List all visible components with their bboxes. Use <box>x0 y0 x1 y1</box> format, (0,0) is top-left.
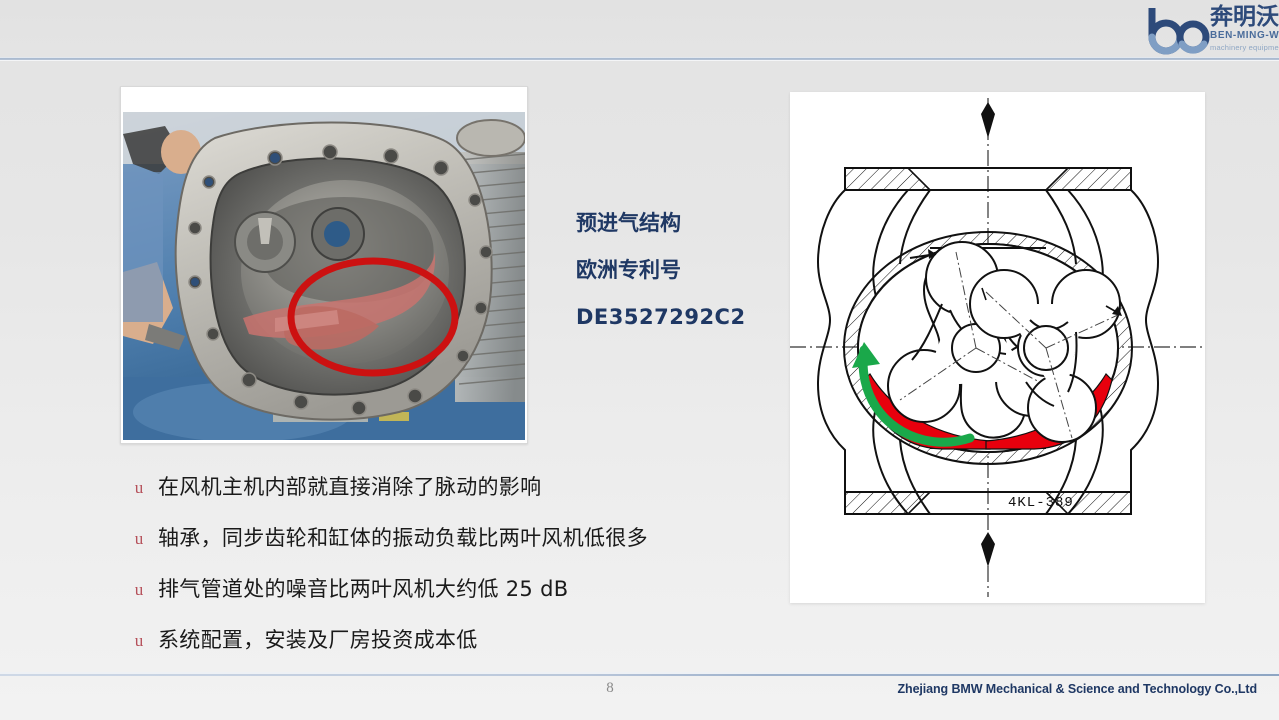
company-logo: 奔明沃 BEN-MING-WO machinery equipment <box>1148 4 1276 56</box>
diagram-label: 4KL-389 <box>1008 495 1074 511</box>
list-item: u 排气管道处的噪音比两叶风机大约低 25 dB <box>120 562 780 613</box>
header-divider-highlight <box>0 60 1279 61</box>
bullet-text: 轴承，同步齿轮和缸体的振动负载比两叶风机低很多 <box>158 522 648 552</box>
slide-canvas: 奔明沃 BEN-MING-WO machinery equipment <box>0 0 1279 720</box>
body-outline-right <box>1131 190 1158 492</box>
bullet-text: 排气管道处的噪音比两叶风机大约低 25 dB <box>158 573 568 603</box>
title-line-2: 欧洲专利号 <box>576 247 796 294</box>
list-item: u 系统配置，安装及厂房投资成本低 <box>120 613 780 664</box>
bullet-marker-icon: u <box>120 578 158 598</box>
title-patent-number: DE3527292C2 <box>576 294 796 341</box>
bullet-text: 在风机主机内部就直接消除了脉动的影响 <box>158 471 541 501</box>
bullet-marker-icon: u <box>120 527 158 547</box>
diagram-drawing: 4KL-389 <box>790 92 1205 603</box>
logo-brand-cn: 奔明沃 <box>1210 4 1279 30</box>
body-outline-left <box>818 190 845 492</box>
list-item: u 轴承，同步齿轮和缸体的振动负载比两叶风机低很多 <box>120 511 780 562</box>
header-band <box>0 0 1279 58</box>
outlet-arrow-icon <box>981 532 995 567</box>
footer-company-name: Zhejiang BMW Mechanical & Science and Te… <box>898 682 1258 696</box>
page-number: 8 <box>595 680 625 697</box>
blower-casing-photo <box>120 86 528 444</box>
logo-brand-en: BEN-MING-WO <box>1210 30 1279 41</box>
blower-cross-section-diagram: 4KL-389 <box>790 92 1205 603</box>
logo-tagline: machinery equipment <box>1210 43 1279 52</box>
title-line-1: 预进气结构 <box>576 200 796 247</box>
inlet-arrow-icon <box>981 102 995 138</box>
bullet-marker-icon: u <box>120 476 158 496</box>
photo-image <box>123 112 525 440</box>
bullet-marker-icon: u <box>120 629 158 649</box>
photo-content <box>123 112 525 440</box>
page-title: 预进气结构 欧洲专利号 DE3527292C2 <box>576 200 796 341</box>
footer-divider <box>0 674 1279 676</box>
bullet-text: 系统配置，安装及厂房投资成本低 <box>158 624 478 654</box>
list-item: u 在风机主机内部就直接消除了脉动的影响 <box>120 460 780 511</box>
bullet-list: u 在风机主机内部就直接消除了脉动的影响 u 轴承，同步齿轮和缸体的振动负载比两… <box>120 460 780 664</box>
